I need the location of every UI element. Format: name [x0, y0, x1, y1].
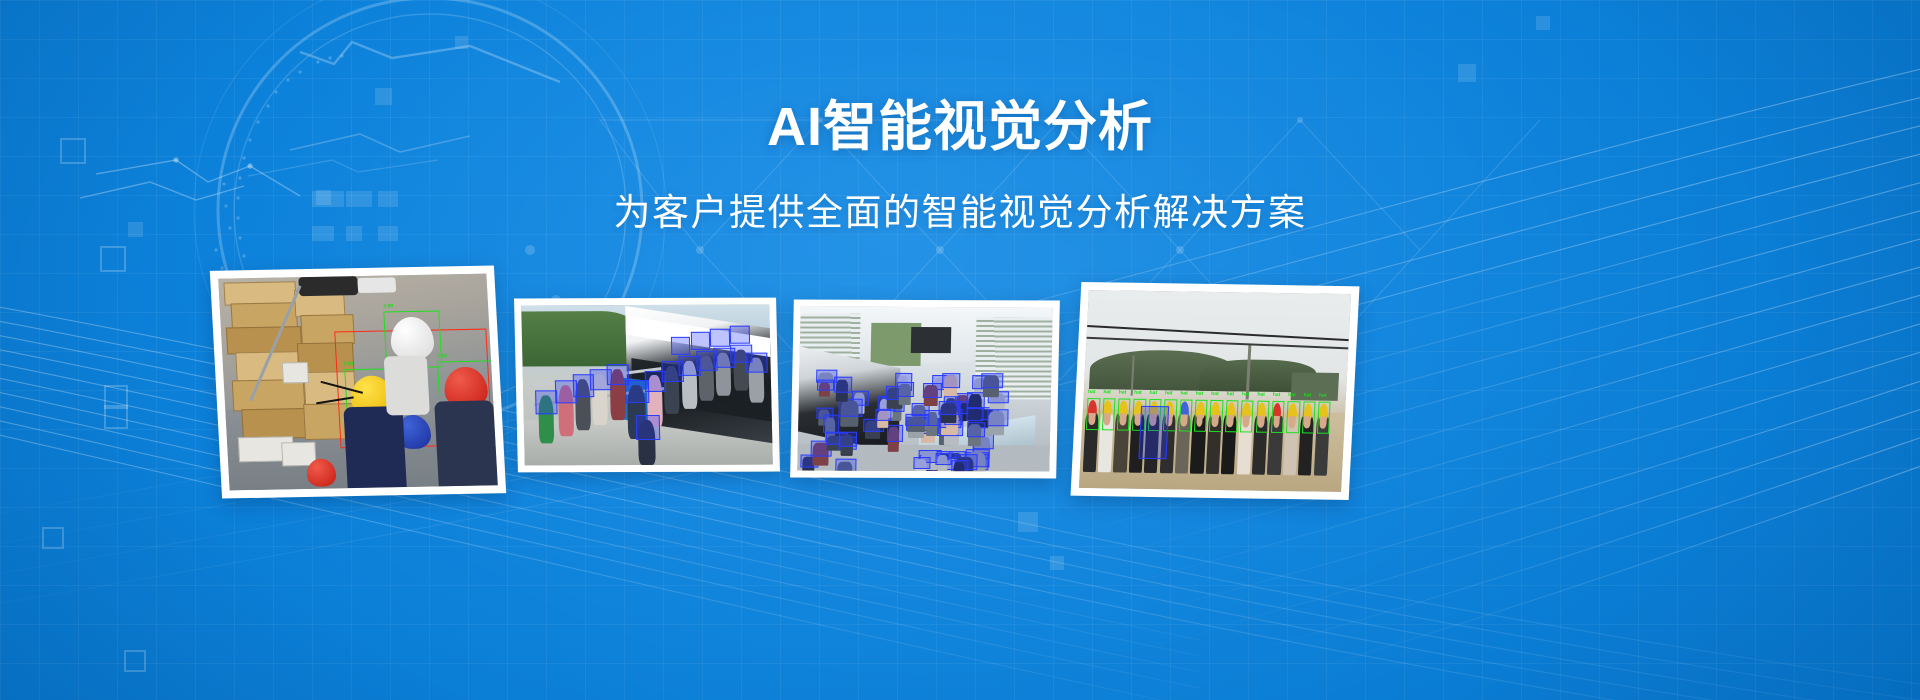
detection-label-hat: hat [1165, 391, 1173, 396]
detection-box-person [936, 453, 952, 465]
hat-detections: hathathathathathathathathathathathathath… [1089, 290, 1351, 294]
gallery-photo-outdoor-hardhat-detection[interactable]: hathathathathathathathathathathathathath… [1071, 282, 1360, 500]
detection-box-person [939, 401, 961, 415]
detection-box-hat [1302, 401, 1316, 433]
photo-image-concourse [797, 307, 1052, 472]
detection-box-person [876, 408, 892, 421]
detection-label-hat: hat [1242, 392, 1250, 397]
detection-label-hat: hat [1134, 391, 1142, 396]
detection-box-person [823, 415, 839, 433]
detection-box-hat [1240, 400, 1254, 432]
photo-gallery: 0.99 0.98 0.96 0.97 [0, 0, 1920, 700]
detection-label-hat: hat [1226, 392, 1234, 397]
detection-box-person [922, 383, 942, 398]
detection-box-person [913, 457, 930, 469]
detection-label-hat: hat [1303, 393, 1311, 398]
detection-box-person [951, 460, 968, 472]
photo-image-warehouse: 0.99 0.98 0.96 0.97 [218, 274, 498, 491]
detection-label-hat: hat [1103, 390, 1111, 395]
detection-label-hat: hat [1319, 393, 1327, 398]
detection-box-hat [1271, 401, 1285, 433]
detection-box-person [987, 409, 1008, 426]
detection-label-hat: hat [1149, 391, 1157, 396]
detection-box-person [834, 377, 852, 393]
photo-image-outdoor: hathathathathathathathathathathathathath… [1079, 290, 1351, 492]
detection-label-hat: hat [1257, 392, 1265, 397]
photo-image-platform [521, 305, 773, 466]
detection-box-hat [1101, 398, 1115, 430]
detection-box-person [897, 381, 915, 396]
hero-banner: AI智能视觉分析 为客户提供全面的智能视觉分析解决方案 [0, 0, 1920, 700]
detection-box-hat [1317, 402, 1331, 434]
detection-box-person [886, 425, 903, 443]
gallery-photo-warehouse-helmet-detection[interactable]: 0.99 0.98 0.96 0.97 [210, 265, 506, 498]
detection-box-person [1138, 406, 1169, 460]
detection-box-person [966, 407, 984, 421]
detection-box-hat [1225, 400, 1239, 432]
detection-box-hat [1178, 399, 1192, 431]
detection-box-hat [1255, 401, 1269, 433]
detection-box-hat [1209, 400, 1223, 432]
detection-label-hat: hat [1119, 390, 1127, 395]
detection-label-hat: hat [1180, 391, 1188, 396]
detection-box-hat [1194, 400, 1208, 432]
detection-label-hat: hat [1288, 393, 1296, 398]
detection-box-person [905, 414, 929, 426]
detection-label-hat: hat [1088, 390, 1096, 395]
detection-box-hat [1086, 398, 1100, 430]
detection-box-person [981, 373, 1003, 388]
detection-box-hat [1117, 398, 1131, 430]
detection-label-hat: hat [1196, 391, 1204, 396]
detection-box-person [836, 459, 856, 471]
detection-label-hat: hat [1273, 393, 1281, 398]
gallery-photo-concourse-crowd-detection[interactable] [790, 300, 1060, 479]
detection-box-hat [1286, 401, 1300, 433]
detection-box-person [817, 380, 834, 391]
gallery-photo-station-platform-person-detection[interactable] [514, 298, 780, 473]
detection-box-person [839, 432, 857, 446]
detection-box-person [967, 422, 986, 438]
detection-label-hat: hat [1211, 392, 1219, 397]
detection-box-person [942, 373, 960, 388]
